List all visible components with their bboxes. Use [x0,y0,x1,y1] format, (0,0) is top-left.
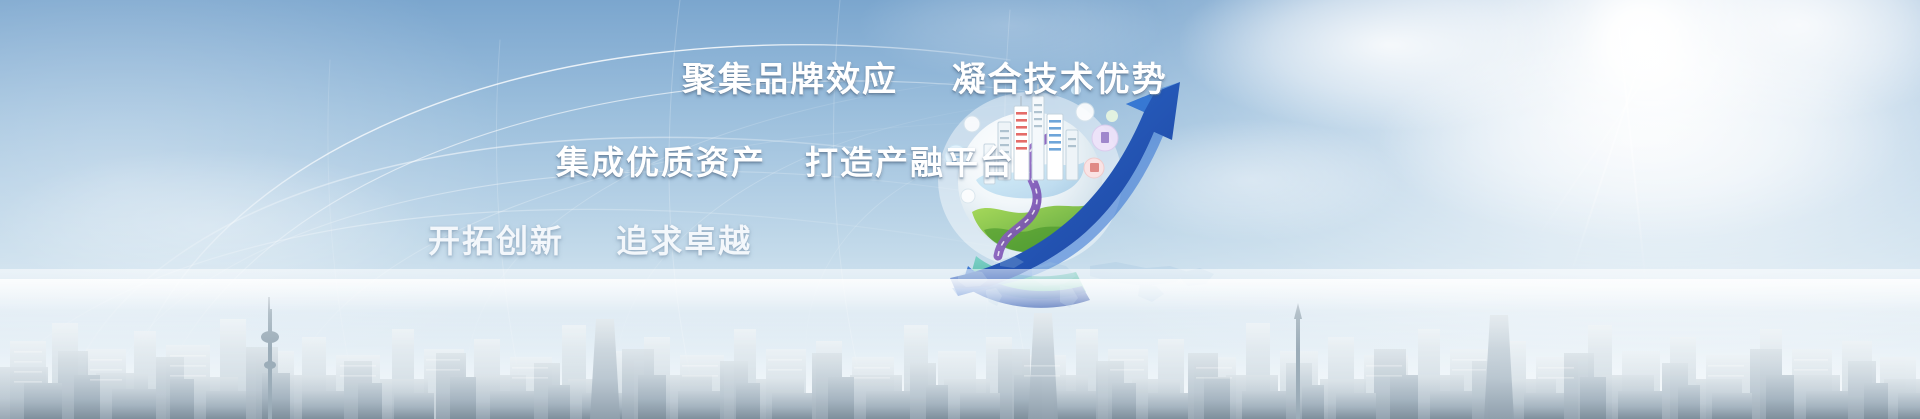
slogan-line-3: 开拓创新 追求卓越 [428,216,752,262]
slogan-line-3-left: 开拓创新 [428,222,564,260]
slogan-line-1-left: 聚集品牌效应 [682,60,898,100]
slogan-line-2-left: 集成优质资产 [556,143,766,182]
slogan-line-3-right: 追求卓越 [616,222,752,260]
slogan-line-2: 集成优质资产 打造产融平台 [556,136,1015,184]
city-skyline-silhouette [0,279,1920,419]
slogan-line-1: 聚集品牌效应 凝合技术优势 [682,52,1168,101]
slogan-line-2-right: 打造产融平台 [805,143,1015,182]
hero-banner: 聚集品牌效应 凝合技术优势 集成优质资产 打造产融平台 开拓创新 追求卓越 [0,0,1920,419]
slogan-line-1-right: 凝合技术优势 [952,60,1168,100]
